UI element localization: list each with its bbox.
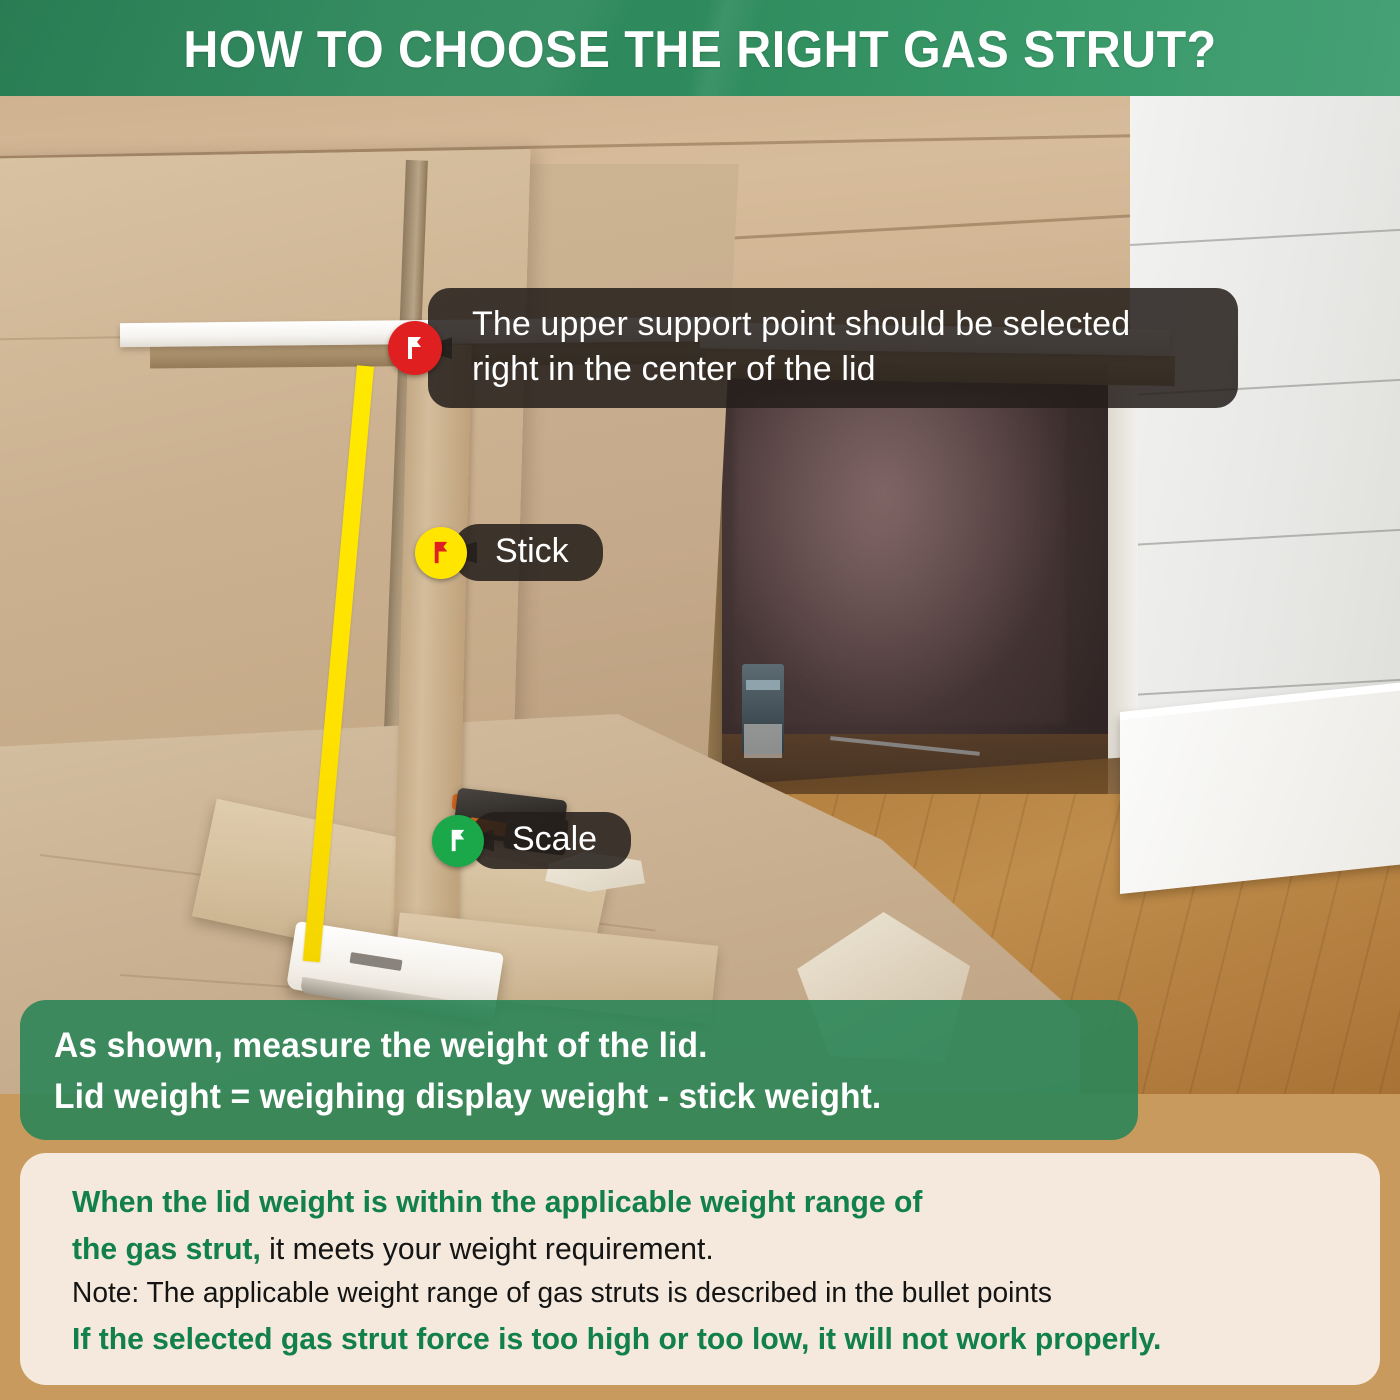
page-title: HOW TO CHOOSE THE RIGHT GAS STRUT? bbox=[49, 20, 1351, 80]
infographic-canvas: HOW TO CHOOSE THE RIGHT GAS STRUT? The u… bbox=[0, 0, 1400, 1400]
callout-label-stick: Stick bbox=[495, 532, 569, 571]
flag-icon bbox=[415, 527, 467, 579]
note-line-4: If the selected gas strut force is too h… bbox=[72, 1316, 1300, 1363]
cavity-tool-detail bbox=[746, 680, 780, 690]
callout-label-scale: Scale bbox=[512, 820, 597, 859]
header-banner: HOW TO CHOOSE THE RIGHT GAS STRUT? bbox=[0, 0, 1400, 96]
callout-upper-support-point[interactable]: The upper support point should be select… bbox=[388, 288, 1238, 408]
flag-icon bbox=[432, 815, 484, 867]
instruction-line-1: As shown, measure the weight of the lid. bbox=[54, 1020, 1062, 1071]
flag-icon bbox=[388, 321, 442, 375]
instruction-panel: As shown, measure the weight of the lid.… bbox=[20, 1000, 1138, 1140]
callout-bubble: Stick bbox=[453, 524, 603, 581]
workshop-photo bbox=[0, 94, 1400, 1094]
callout-line-2: right in the center of the lid bbox=[472, 347, 1130, 392]
note-line-3: Note: The applicable weight range of gas… bbox=[72, 1272, 1300, 1316]
callout-stick[interactable]: Stick bbox=[415, 524, 603, 581]
note-panel: When the lid weight is within the applic… bbox=[20, 1153, 1380, 1385]
note-line-1: When the lid weight is within the applic… bbox=[72, 1179, 1300, 1226]
callout-bubble: Scale bbox=[470, 812, 631, 869]
note-line-2: the gas strut, it meets your weight requ… bbox=[72, 1226, 1300, 1273]
note-line-2-rest: it meets your weight requirement. bbox=[269, 1231, 714, 1266]
callout-scale[interactable]: Scale bbox=[432, 812, 631, 869]
callout-bubble: The upper support point should be select… bbox=[428, 288, 1238, 408]
note-line-2-bold: the gas strut, bbox=[72, 1231, 261, 1266]
cavity-tool-detail bbox=[744, 724, 782, 758]
instruction-line-2: Lid weight = weighing display weight - s… bbox=[54, 1071, 1062, 1122]
insulation bbox=[735, 394, 1065, 724]
callout-line-1: The upper support point should be select… bbox=[472, 302, 1130, 347]
